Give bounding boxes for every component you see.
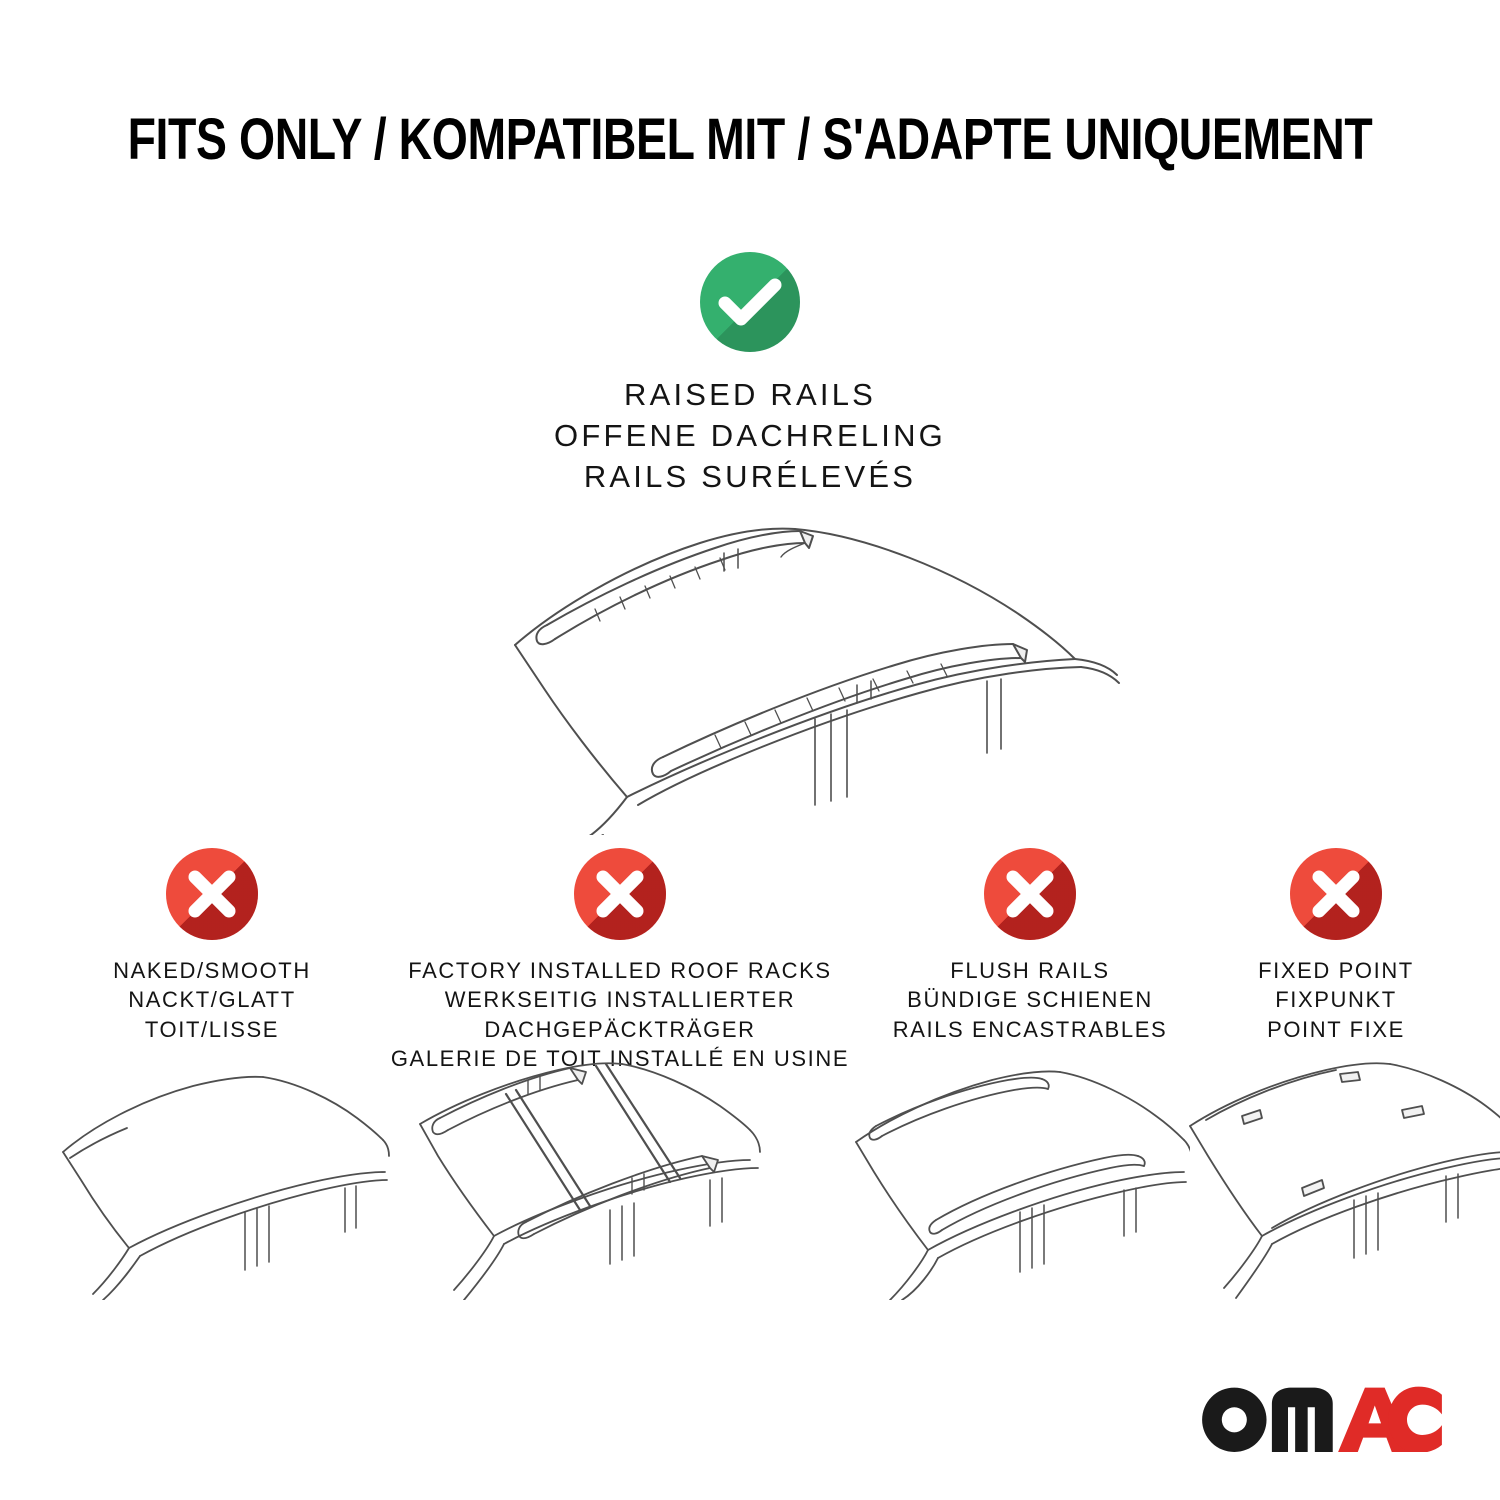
compatible-labels: RAISED RAILS OFFENE DACHRELING RAILS SUR… [554,374,946,498]
incompatible-item-flush-rails: FLUSH RAILS BÜNDIGE SCHIENEN RAILS ENCAS… [862,848,1198,1044]
label-line: DACHGEPÄCKTRÄGER [391,1015,849,1044]
logo-letter-m [1272,1388,1333,1452]
incompatible-item-fixed-point: FIXED POINT FIXPUNKT POINT FIXE [1208,848,1464,1044]
compatible-label-de: OFFENE DACHRELING [554,415,946,456]
compatible-label-fr: RAILS SURÉLEVÉS [554,456,946,497]
label-line: POINT FIXE [1258,1015,1414,1044]
label-line: WERKSEITIG INSTALLIERTER [391,985,849,1014]
compatible-section: RAISED RAILS OFFENE DACHRELING RAILS SUR… [0,252,1500,498]
label-line: NAKED/SMOOTH [113,956,311,985]
label-line: RAILS ENCASTRABLES [893,1015,1168,1044]
logo-letter-c [1388,1387,1442,1452]
car-roof-naked-smooth-illustration [45,1060,390,1300]
omac-logo: OMAC [1202,1380,1442,1452]
label-line: BÜNDIGE SCHIENEN [893,985,1168,1014]
x-circle-icon [984,848,1076,940]
incompatible-item-naked-smooth: NAKED/SMOOTH NACKT/GLATT TOIT/LISSE [62,848,362,1044]
incompatible-illustrations-row [0,1060,1500,1300]
incompatible-label-factory-rack: FACTORY INSTALLED ROOF RACKS WERKSEITIG … [391,956,849,1074]
logo-letter-o [1202,1388,1266,1452]
incompatible-section: NAKED/SMOOTH NACKT/GLATT TOIT/LISSE FACT… [0,848,1500,1068]
label-line: FLUSH RAILS [893,956,1168,985]
x-circle-icon [574,848,666,940]
car-roof-factory-rack-illustration [398,1060,798,1300]
incompatible-label-flush-rails: FLUSH RAILS BÜNDIGE SCHIENEN RAILS ENCAS… [893,956,1168,1044]
car-roof-fixed-point-illustration [1180,1060,1500,1300]
label-line: NACKT/GLATT [113,985,311,1014]
label-line: FIXED POINT [1258,956,1414,985]
compatible-label-en: RAISED RAILS [554,374,946,415]
check-circle-icon [700,252,800,352]
incompatible-label-naked-smooth: NAKED/SMOOTH NACKT/GLATT TOIT/LISSE [113,956,311,1044]
car-roof-raised-rails-illustration [395,505,1125,835]
label-line: FIXPUNKT [1258,985,1414,1014]
label-line: TOIT/LISSE [113,1015,311,1044]
page-title: FITS ONLY / KOMPATIBEL MIT / S'ADAPTE UN… [128,111,1373,169]
incompatible-label-fixed-point: FIXED POINT FIXPUNKT POINT FIXE [1258,956,1414,1044]
header: FITS ONLY / KOMPATIBEL MIT / S'ADAPTE UN… [0,100,1500,180]
incompatible-item-factory-rack: FACTORY INSTALLED ROOF RACKS WERKSEITIG … [390,848,850,1074]
label-line: FACTORY INSTALLED ROOF RACKS [391,956,849,985]
x-circle-icon [1290,848,1382,940]
car-roof-flush-rails-illustration [840,1060,1190,1300]
x-circle-icon [166,848,258,940]
